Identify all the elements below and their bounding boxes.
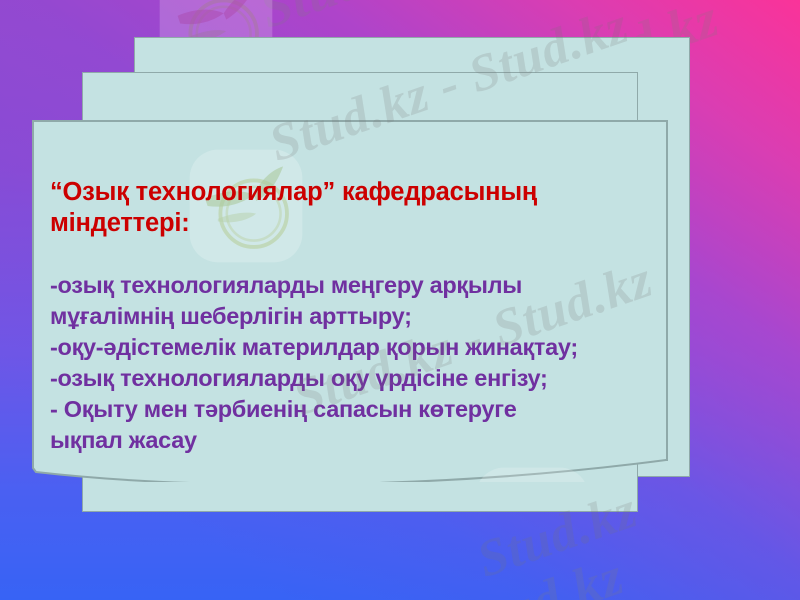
list-item: -озық технологияларды оқу үрдісіне енгіз… (50, 363, 660, 394)
list-item: -оқу-әдістемелік материлдар қорын жинақт… (50, 332, 660, 363)
slide-body-list: -озық технологияларды меңгеру арқылы мұғ… (50, 270, 660, 456)
card-front: “Озық технологиялар” кафедрасының міндет… (32, 120, 668, 482)
list-item: ықпал жасау (50, 425, 660, 456)
front-card-content: “Озық технологиялар” кафедрасының міндет… (32, 120, 668, 482)
hummingbird-logo-icon (468, 460, 596, 482)
slide-title: “Озық технологиялар” кафедрасының міндет… (50, 177, 660, 239)
watermark-text: Stud.kz (450, 544, 631, 600)
slide-canvas: Stud.kz Stud.kz Stud.kz - Stud.kz Stud.k… (0, 0, 800, 600)
title-body-spacer (50, 239, 660, 270)
slide-text-block: “Озық технологиялар” кафедрасының міндет… (50, 177, 660, 456)
list-item: мұғалімнің шеберлігін арттыру; (50, 301, 660, 332)
list-item: - Оқыту мен тәрбиенің сапасын көтеруге (50, 394, 660, 425)
list-item: -озық технологияларды меңгеру арқылы (50, 270, 660, 301)
